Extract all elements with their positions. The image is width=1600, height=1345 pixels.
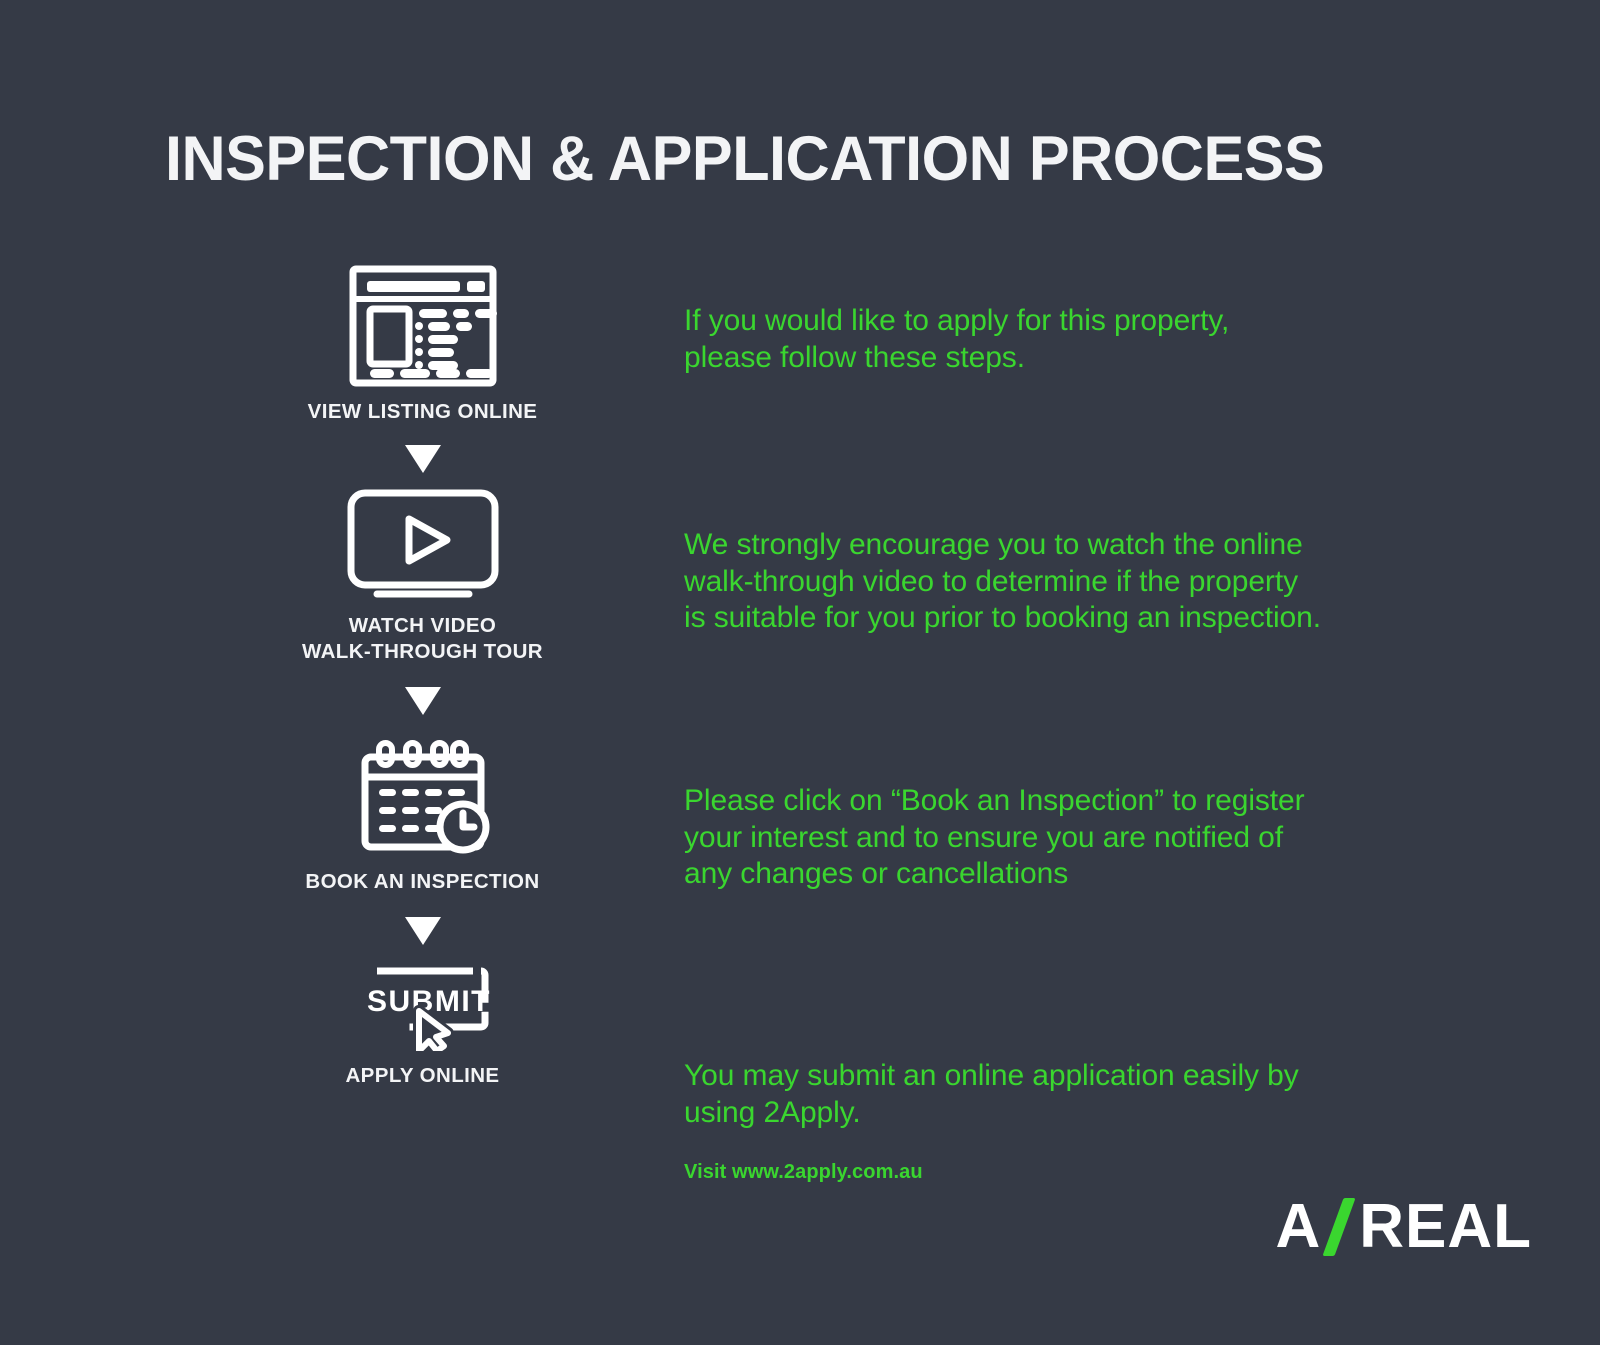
flow-step-apply-online: SUBMIT APPLY ONLINE <box>230 959 615 1089</box>
copy-text: If you would like to apply for this prop… <box>684 303 1229 376</box>
flow-step-label: WATCH VIDEO WALK-THROUGH TOUR <box>230 613 615 665</box>
down-triangle-arrow-icon <box>230 687 615 715</box>
copy-block-apply: You may submit an online application eas… <box>684 1058 1299 1131</box>
copy-block-inspection: Please click on “Book an Inspection” to … <box>684 783 1305 893</box>
flow-step-label: VIEW LISTING ONLINE <box>230 399 615 425</box>
copy-block-intro: If you would like to apply for this prop… <box>684 303 1229 376</box>
flow-step-book-inspection: BOOK AN INSPECTION <box>230 729 615 895</box>
video-play-monitor-icon <box>230 489 615 601</box>
copy-text: We strongly encourage you to watch the o… <box>684 527 1321 637</box>
logo-text-right: REAL <box>1359 1196 1532 1258</box>
process-flow: VIEW LISTING ONLINE WATCH VIDEO WALK-THR… <box>230 265 615 1089</box>
logo-text-left: A <box>1275 1196 1321 1258</box>
infographic-page: INSPECTION & APPLICATION PROCESS <box>0 0 1600 1345</box>
down-triangle-arrow-icon <box>230 917 615 945</box>
calendar-clock-icon <box>230 729 615 857</box>
flow-step-label: APPLY ONLINE <box>230 1063 615 1089</box>
copy-block-video: We strongly encourage you to watch the o… <box>684 527 1321 637</box>
flow-step-view-listing: VIEW LISTING ONLINE <box>230 265 615 425</box>
submit-button-cursor-icon: SUBMIT <box>230 959 615 1051</box>
visit-link[interactable]: Visit www.2apply.com.au <box>684 1159 923 1185</box>
copy-text: Please click on “Book an Inspection” to … <box>684 783 1305 893</box>
flow-step-watch-video: WATCH VIDEO WALK-THROUGH TOUR <box>230 489 615 665</box>
flow-step-label: BOOK AN INSPECTION <box>230 869 615 895</box>
page-title: INSPECTION & APPLICATION PROCESS <box>165 122 1324 196</box>
green-slash-icon <box>1323 1198 1356 1256</box>
down-triangle-arrow-icon <box>230 445 615 473</box>
listing-window-icon <box>230 265 615 387</box>
copy-text: You may submit an online application eas… <box>684 1058 1299 1131</box>
brand-logo: A REAL <box>1275 1192 1532 1262</box>
